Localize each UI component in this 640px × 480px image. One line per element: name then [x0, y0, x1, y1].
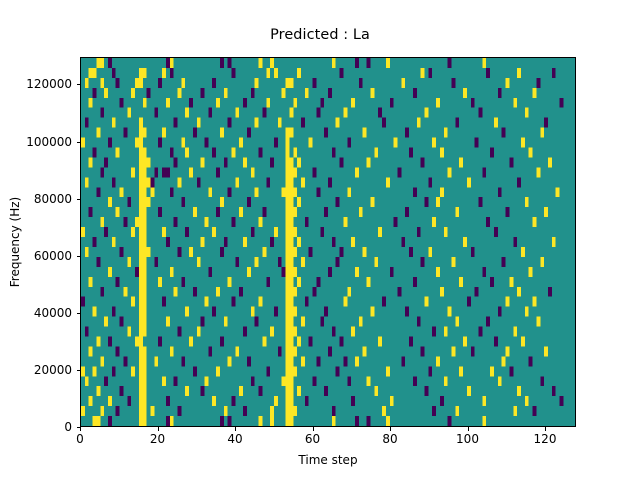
y-tick-label: 60000	[72, 249, 110, 263]
x-tick-mark	[313, 427, 314, 431]
heatmap-image	[81, 58, 575, 426]
x-tick-label: 0	[76, 432, 84, 446]
x-tick-label: 20	[150, 432, 165, 446]
y-axis-label: Frequency (Hz)	[8, 197, 22, 288]
y-tick-label: 20000	[72, 363, 110, 377]
x-tick-label: 60	[305, 432, 320, 446]
y-tick-label: 80000	[72, 192, 110, 206]
y-tick-label: 40000	[72, 306, 110, 320]
y-tick-label: 100000	[72, 135, 118, 149]
x-tick-label: 40	[227, 432, 242, 446]
x-tick-mark	[390, 427, 391, 431]
figure-canvas: Predicted : La Time step Frequency (Hz) …	[0, 0, 640, 480]
x-tick-mark	[235, 427, 236, 431]
page-title: Predicted : La	[0, 27, 640, 43]
x-tick-label: 100	[456, 432, 479, 446]
y-tick-label: 120000	[72, 77, 118, 91]
x-tick-mark	[545, 427, 546, 431]
x-tick-mark	[80, 427, 81, 431]
x-axis-label: Time step	[80, 453, 576, 467]
x-tick-label: 120	[534, 432, 557, 446]
x-tick-mark	[158, 427, 159, 431]
x-tick-label: 80	[382, 432, 397, 446]
heatmap-plot-area	[80, 57, 576, 427]
y-tick-label: 0	[72, 420, 80, 434]
x-tick-mark	[468, 427, 469, 431]
